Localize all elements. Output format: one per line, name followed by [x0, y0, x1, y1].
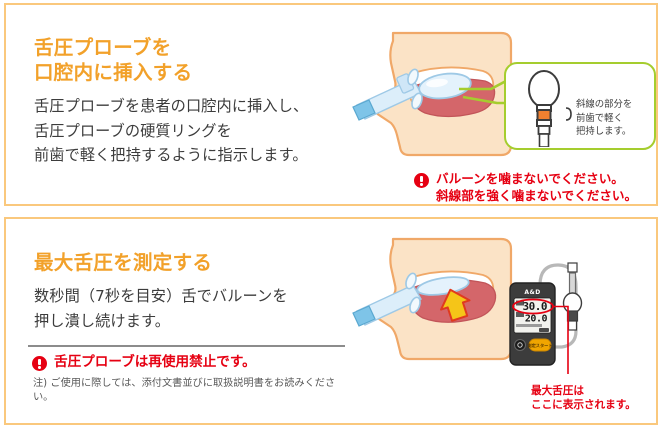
- warning-text-2: 舌圧プローブは再使用禁止です。: [54, 354, 256, 371]
- svg-text:20.0: 20.0: [525, 314, 548, 325]
- step-1-body: 舌圧プローブを患者の口腔内に挿入し、 舌圧プローブの硬質リングを 前歯で軽く把持…: [34, 94, 364, 168]
- mouth-cross-section-illustration-2: [351, 231, 521, 371]
- warning-exclamation-icon-2: [32, 356, 47, 371]
- warning-block-2: 舌圧プローブは再使用禁止です。: [32, 354, 352, 371]
- step-2-text-column: 最大舌圧を測定する 数秒間（7秒を目安）舌でバルーンを 押し潰し続けます。: [34, 250, 364, 333]
- step-1-text-column: 舌圧プローブを 口腔内に挿入する 舌圧プローブを患者の口腔内に挿入し、 舌圧プロ…: [34, 35, 364, 168]
- section-divider: [28, 345, 345, 347]
- instruction-sheet: 舌圧プローブを 口腔内に挿入する 舌圧プローブを患者の口腔内に挿入し、 舌圧プロ…: [0, 0, 662, 430]
- warning-exclamation-icon: [414, 173, 429, 188]
- max-pressure-annotation: 最大舌圧は ここに表示されます。: [531, 385, 661, 412]
- footnote-text: 注) ご使用に際しては、添付文書並びに取扱説明書をお読みください。: [33, 377, 353, 405]
- measuring-device-illustration: A&D 30.0 20.0 測定スタート: [506, 261, 614, 376]
- svg-text:30.0: 30.0: [523, 300, 548, 313]
- probe-closeup-icon: [522, 69, 566, 147]
- step-2-body: 数秒間（7秒を目安）舌でバルーンを 押し潰し続けます。: [34, 284, 364, 333]
- callout-bubble-1: 斜線の部分を 前歯で軽く 把持します。: [504, 62, 656, 150]
- svg-text:A&D: A&D: [524, 289, 540, 296]
- step-1-title: 舌圧プローブを 口腔内に挿入する: [34, 35, 364, 85]
- callout-text-1: 斜線の部分を 前歯で軽く 把持します。: [576, 98, 656, 139]
- step-panel-2: 最大舌圧を測定する 数秒間（7秒を目安）舌でバルーンを 押し潰し続けます。 舌圧…: [4, 217, 658, 425]
- step-panel-1: 舌圧プローブを 口腔内に挿入する 舌圧プローブを患者の口腔内に挿入し、 舌圧プロ…: [4, 3, 658, 206]
- warning-block-1: バルーンを噛まないでください。 斜線部を強く噛まないでください。: [414, 171, 660, 204]
- warning-text-1: バルーンを噛まないでください。 斜線部を強く噛まないでください。: [436, 171, 637, 204]
- step-2-title: 最大舌圧を測定する: [34, 250, 364, 275]
- svg-text:測定スタート: 測定スタート: [527, 342, 552, 349]
- mouth-cross-section-illustration-1: [351, 23, 521, 168]
- brace-icon: [565, 107, 574, 121]
